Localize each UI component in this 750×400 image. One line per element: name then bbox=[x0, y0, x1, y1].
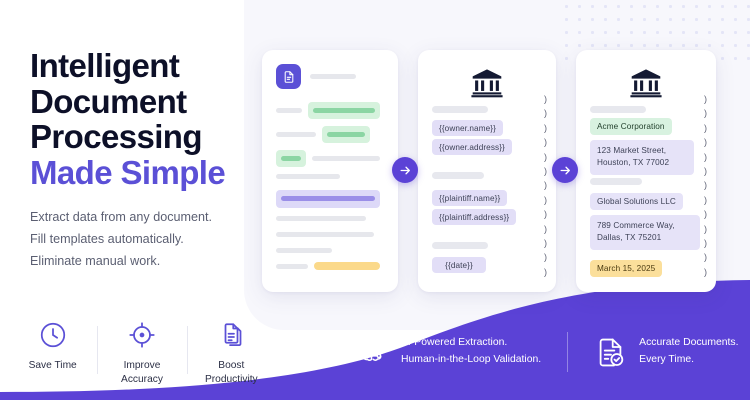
line-marker: ) bbox=[544, 268, 547, 277]
documents-icon bbox=[216, 320, 246, 350]
template-section-bar bbox=[432, 172, 484, 179]
hero-sub-line-2: Fill templates automatically. bbox=[30, 228, 255, 250]
skeleton-line bbox=[276, 216, 366, 221]
line-marker: ) bbox=[704, 253, 707, 262]
line-marker: ) bbox=[544, 153, 547, 162]
hero-section: Intelligent Document Processing Made Sim… bbox=[30, 48, 255, 272]
template-field-owner-name[interactable]: {{owner.name}} bbox=[432, 120, 503, 136]
result-field-owner-address[interactable]: 123 Market Street, Houston, TX 77002 bbox=[590, 140, 694, 175]
line-marker: ) bbox=[544, 210, 547, 219]
skeleton-line bbox=[276, 108, 302, 113]
result-document-card[interactable]: Acme Corporation 123 Market Street, Hous… bbox=[576, 50, 716, 292]
title-line-3: Processing bbox=[30, 118, 202, 155]
ai-brain-icon bbox=[355, 335, 389, 369]
benefit-label-improve: Improve bbox=[124, 360, 161, 371]
benefit-label-improve-accuracy: Improve Accuracy bbox=[121, 359, 163, 386]
benefit-save-time: Save Time bbox=[8, 320, 97, 372]
title-line-4-accent: Made Simple bbox=[30, 154, 225, 191]
arrow-right-icon-2[interactable] bbox=[552, 157, 578, 183]
line-marker: ) bbox=[704, 210, 707, 219]
template-section-bar bbox=[432, 242, 488, 249]
banner-accuracy-line-2: Every Time. bbox=[639, 352, 738, 369]
hero-sub-line-1: Extract data from any document. bbox=[30, 206, 255, 228]
source-document-card[interactable] bbox=[262, 50, 398, 292]
skeleton-line bbox=[310, 74, 356, 79]
skeleton-line bbox=[276, 132, 316, 137]
bank-building-icon bbox=[629, 66, 663, 100]
template-line-markers: ) ) ) ) ) ) ) ) ) ) ) ) ) bbox=[544, 95, 547, 277]
skeleton-line bbox=[276, 232, 374, 237]
hero-sub-line-3: Eliminate manual work. bbox=[30, 250, 255, 272]
clock-icon bbox=[38, 320, 68, 350]
result-line-markers: ) ) ) ) ) ) ) ) ) ) ) ) ) bbox=[704, 95, 707, 277]
banner-text-ai: AI-Powered Extraction. Human-in-the-Loop… bbox=[401, 335, 541, 369]
result-field-plaintiff-address[interactable]: 789 Commerce Way, Dallas, TX 75201 bbox=[590, 215, 700, 250]
banner-text-accuracy: Accurate Documents. Every Time. bbox=[639, 335, 738, 369]
line-marker: ) bbox=[704, 268, 707, 277]
skeleton-line bbox=[276, 174, 340, 179]
line-marker: ) bbox=[704, 153, 707, 162]
line-marker: ) bbox=[544, 225, 547, 234]
benefit-improve-accuracy: Improve Accuracy bbox=[97, 320, 186, 386]
line-marker: ) bbox=[544, 167, 547, 176]
line-marker: ) bbox=[544, 124, 547, 133]
banner-divider bbox=[567, 332, 568, 372]
banner-item-ai-extraction: AI-Powered Extraction. Human-in-the-Loop… bbox=[355, 335, 541, 369]
result-field-plaintiff-name[interactable]: Global Solutions LLC bbox=[590, 193, 683, 210]
benefits-strip: Save Time Improve Accuracy Boost Product… bbox=[8, 320, 276, 386]
result-section-bar bbox=[590, 106, 646, 113]
line-marker: ) bbox=[544, 181, 547, 190]
hero-subtitle: Extract data from any document. Fill tem… bbox=[30, 206, 255, 272]
benefit-label-boost-productivity: Boost Productivity bbox=[205, 359, 258, 386]
template-section-bar bbox=[432, 106, 488, 113]
line-marker: ) bbox=[544, 138, 547, 147]
line-marker: ) bbox=[704, 196, 707, 205]
line-marker: ) bbox=[704, 109, 707, 118]
line-marker: ) bbox=[544, 109, 547, 118]
benefit-boost-productivity: Boost Productivity bbox=[187, 320, 276, 386]
skeleton-line bbox=[276, 248, 332, 253]
line-marker: ) bbox=[544, 95, 547, 104]
line-marker: ) bbox=[704, 181, 707, 190]
result-plaintiff-address-line-1: 789 Commerce Way, bbox=[597, 221, 675, 230]
result-field-owner-name[interactable]: Acme Corporation bbox=[590, 118, 672, 135]
document-check-icon bbox=[594, 336, 627, 369]
line-marker: ) bbox=[544, 253, 547, 262]
line-marker: ) bbox=[704, 95, 707, 104]
line-marker: ) bbox=[704, 124, 707, 133]
line-marker: ) bbox=[704, 167, 707, 176]
source-highlight-fill bbox=[313, 108, 375, 113]
banner-ai-line-1: AI-Powered Extraction. bbox=[401, 335, 541, 352]
title-line-1: Intelligent bbox=[30, 47, 179, 84]
arrow-right-icon-1[interactable] bbox=[392, 157, 418, 183]
benefit-label-boost: Boost bbox=[218, 360, 244, 371]
result-field-date[interactable]: March 15, 2025 bbox=[590, 260, 662, 277]
banner-item-accurate-documents: Accurate Documents. Every Time. bbox=[594, 335, 738, 369]
line-marker: ) bbox=[704, 225, 707, 234]
benefit-label-accuracy: Accuracy bbox=[121, 374, 163, 385]
skeleton-line bbox=[276, 264, 308, 269]
document-file-icon bbox=[276, 64, 301, 89]
bank-building-icon bbox=[470, 66, 504, 100]
source-highlight-fill bbox=[281, 156, 301, 161]
template-field-plaintiff-address[interactable]: {{plaintiff.address}} bbox=[432, 209, 516, 225]
page-title: Intelligent Document Processing Made Sim… bbox=[30, 48, 255, 191]
skeleton-line bbox=[312, 156, 380, 161]
result-owner-address-line-1: 123 Market Street, bbox=[597, 146, 666, 155]
result-owner-address-line-2: Houston, TX 77002 bbox=[597, 158, 669, 167]
template-field-date[interactable]: {{date}} bbox=[432, 257, 486, 273]
benefit-label-productivity: Productivity bbox=[205, 374, 258, 385]
result-section-bar bbox=[590, 178, 642, 185]
line-marker: ) bbox=[544, 196, 547, 205]
bottom-banner: AI-Powered Extraction. Human-in-the-Loop… bbox=[355, 332, 739, 372]
title-line-2: Document bbox=[30, 83, 187, 120]
source-highlight-amber bbox=[314, 262, 380, 270]
line-marker: ) bbox=[704, 138, 707, 147]
target-icon bbox=[127, 320, 157, 350]
banner-ai-line-2: Human-in-the-Loop Validation. bbox=[401, 352, 541, 369]
line-marker: ) bbox=[704, 239, 707, 248]
source-highlight-fill bbox=[281, 196, 375, 201]
banner-accuracy-line-1: Accurate Documents. bbox=[639, 335, 738, 352]
template-card[interactable]: {{owner.name}} {{owner.address}} {{plain… bbox=[418, 50, 556, 292]
line-marker: ) bbox=[544, 239, 547, 248]
benefit-label-save-time: Save Time bbox=[29, 359, 77, 372]
template-field-plaintiff-name[interactable]: {{plaintiff.name}} bbox=[432, 190, 507, 206]
result-plaintiff-address-line-2: Dallas, TX 75201 bbox=[597, 233, 661, 242]
template-field-owner-address[interactable]: {{owner.address}} bbox=[432, 139, 512, 155]
source-highlight-fill bbox=[327, 132, 365, 137]
